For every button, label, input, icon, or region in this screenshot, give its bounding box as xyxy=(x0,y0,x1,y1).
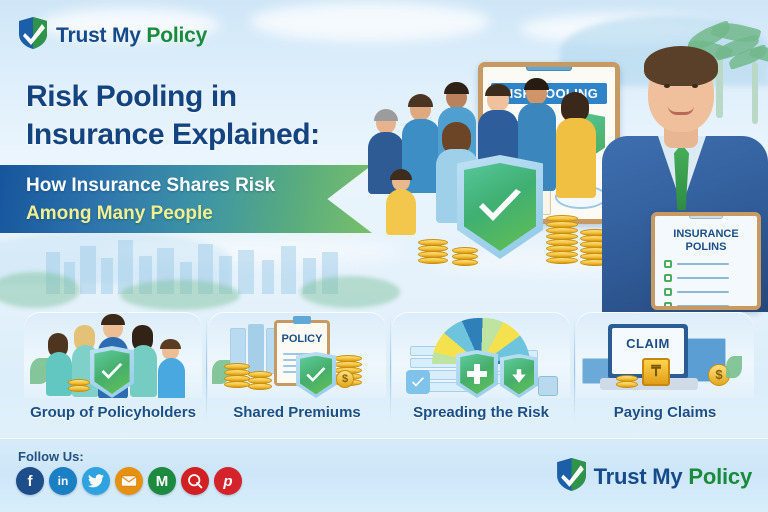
medium-icon[interactable]: M xyxy=(148,467,176,495)
insurance-policy-clipboard: INSURANCE POLINS xyxy=(651,212,761,310)
linkedin-icon[interactable]: in xyxy=(49,467,77,495)
card-separator xyxy=(206,316,207,422)
card-label-group-of-policyholders: Group of Policyholders xyxy=(24,404,202,421)
calculator-icon xyxy=(538,376,558,396)
shield-check-icon xyxy=(556,457,587,497)
hero-illustration: RISK POOLING xyxy=(360,40,768,312)
follow-us-label: Follow Us: xyxy=(18,449,84,464)
checkbox-icon xyxy=(664,288,672,296)
coin-stack-icon xyxy=(224,356,250,388)
held-clipboard-line-1: INSURANCE xyxy=(655,228,757,241)
coin-stack-icon xyxy=(616,370,638,388)
brand-name: Trust My Policy xyxy=(56,24,207,48)
card-shared-premiums[interactable]: POLICY xyxy=(208,312,386,398)
pinterest-icon[interactable]: p xyxy=(214,467,242,495)
check-icon xyxy=(476,189,524,225)
held-clipboard-line-2: POLINS xyxy=(655,241,757,254)
check-badge-icon xyxy=(406,370,430,394)
card-label-paying-claims: Paying Claims xyxy=(576,404,754,421)
subtitle-ribbon: How Insurance Shares Risk Among Many Peo… xyxy=(0,165,372,233)
card-spreading-the-risk[interactable] xyxy=(392,312,570,398)
checkbox-icon xyxy=(664,260,672,268)
quora-icon[interactable] xyxy=(181,467,209,495)
concept-cards: Group of Policyholders POLICY xyxy=(0,312,768,432)
subtitle-line-1: How Insurance Shares Risk xyxy=(26,172,372,200)
card-group-of-policyholders[interactable] xyxy=(24,312,202,398)
checkbox-icon xyxy=(664,302,672,310)
shield-check-icon xyxy=(18,16,48,55)
clipboard-clip-icon xyxy=(526,62,572,71)
subtitle-line-2: Among Many People xyxy=(26,200,372,228)
coin-stack-icon xyxy=(418,228,448,264)
headline-line-2: Insurance Explained: xyxy=(26,116,320,154)
card-label-spreading-the-risk: Spreading the Risk xyxy=(392,404,570,421)
social-links: f in M p xyxy=(16,467,242,495)
coin-stack-icon xyxy=(68,374,90,392)
card-separator xyxy=(390,316,391,422)
shield-check-icon xyxy=(296,352,336,398)
card-paying-claims[interactable]: CLAIM ₸ $ xyxy=(576,312,754,398)
header-logo[interactable]: Trust My Policy xyxy=(18,16,207,55)
dollar-coin-icon: $ xyxy=(336,370,354,388)
card-separator xyxy=(574,316,575,422)
footer-bar: Follow Us: f in M p xyxy=(0,438,768,512)
email-icon[interactable] xyxy=(115,467,143,495)
money-box-icon: ₸ xyxy=(642,358,670,386)
shield-arrow-down-icon xyxy=(500,354,538,398)
page-title: Risk Pooling in Insurance Explained: xyxy=(26,78,320,155)
coin-stack-icon xyxy=(248,366,272,390)
footer-logo[interactable]: Trust My Policy xyxy=(556,457,752,497)
brand-name-part1: Trust My xyxy=(594,464,689,489)
clipboard-clip-icon xyxy=(689,212,723,219)
infographic-poster: Trust My Policy Risk Pooling in Insuranc… xyxy=(0,0,768,512)
brand-name-part2: Policy xyxy=(146,24,207,47)
brand-name: Trust My Policy xyxy=(594,464,752,490)
twitter-icon[interactable] xyxy=(82,467,110,495)
facebook-icon[interactable]: f xyxy=(16,467,44,495)
coin-stack-icon xyxy=(546,198,578,264)
card-doc-title: POLICY xyxy=(277,333,327,345)
brand-name-part1: Trust My xyxy=(56,24,146,47)
checkbox-icon xyxy=(664,274,672,282)
brand-name-part2: Policy xyxy=(688,464,752,489)
card-label-shared-premiums: Shared Premiums xyxy=(208,404,386,421)
headline-line-1: Risk Pooling in xyxy=(26,78,320,116)
